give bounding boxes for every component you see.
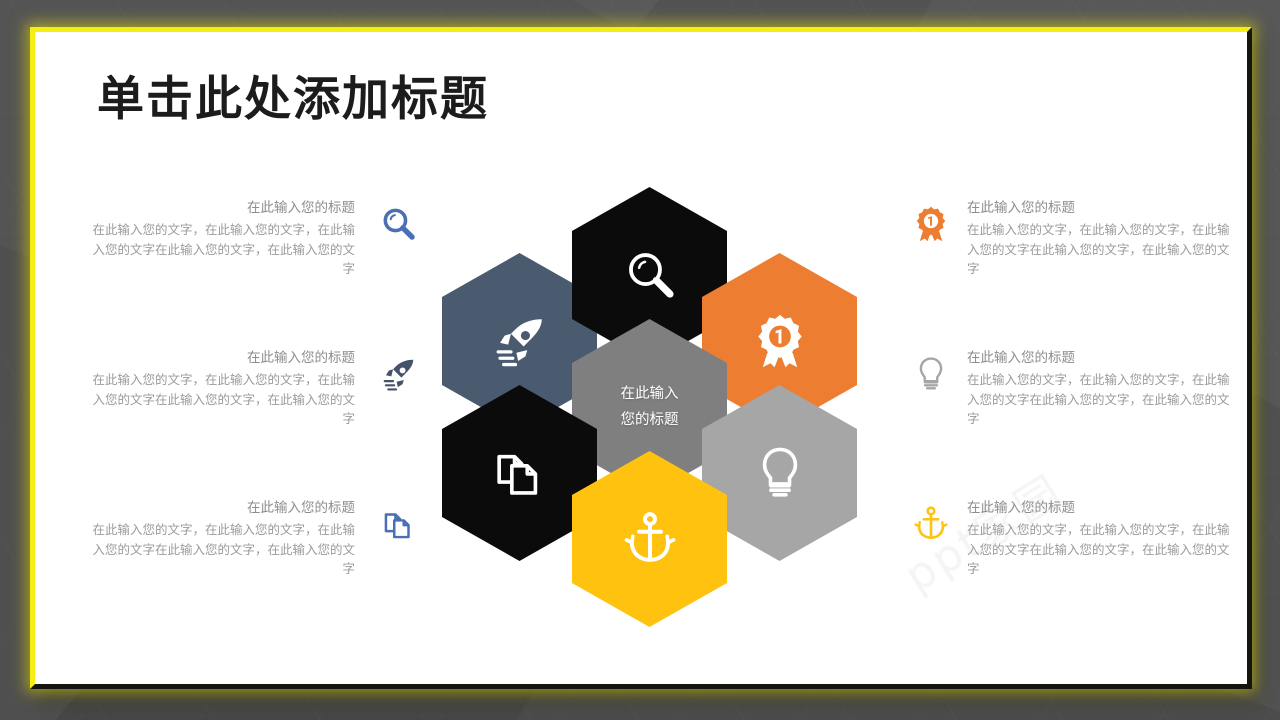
rocket-icon bbox=[377, 352, 421, 396]
info-block-body: 在此输入您的文字，在此输入您的文字，在此输入您的文字在此输入您的文字，在此输入您… bbox=[967, 521, 1239, 580]
info-text-group: 在此输入您的标题 在此输入您的文字，在此输入您的文字，在此输入您的文字在此输入您… bbox=[967, 348, 1239, 430]
info-text-group: 在此输入您的标题 在此输入您的文字，在此输入您的文字，在此输入您的文字在此输入您… bbox=[83, 348, 355, 430]
info-block-body: 在此输入您的文字，在此输入您的文字，在此输入您的文字在此输入您的文字，在此输入您… bbox=[967, 221, 1239, 280]
center-label-line2: 您的标题 bbox=[621, 407, 679, 433]
info-text-group: 在此输入您的标题 在此输入您的文字，在此输入您的文字，在此输入您的文字在此输入您… bbox=[967, 498, 1239, 580]
rocket-icon bbox=[491, 312, 549, 370]
info-block-title: 在此输入您的标题 bbox=[83, 348, 355, 367]
info-block-title: 在此输入您的标题 bbox=[83, 198, 355, 217]
magnifier-icon bbox=[377, 202, 421, 246]
magnifier-icon bbox=[621, 246, 679, 304]
anchor-icon bbox=[621, 510, 679, 568]
info-block-body: 在此输入您的文字，在此输入您的文字，在此输入您的文字在此输入您的文字，在此输入您… bbox=[967, 371, 1239, 430]
info-block-title: 在此输入您的标题 bbox=[967, 498, 1239, 517]
slide-card: 单击此处添加标题 在此输入您的标题 在此输入您的文字，在此输入您的文字，在此输入… bbox=[30, 27, 1252, 689]
info-block-right-3[interactable]: 在此输入您的标题 在此输入您的文字，在此输入您的文字，在此输入您的文字在此输入您… bbox=[903, 498, 1233, 648]
info-block-title: 在此输入您的标题 bbox=[83, 498, 355, 517]
info-block-right-1[interactable]: 在此输入您的标题 在此输入您的文字，在此输入您的文字，在此输入您的文字在此输入您… bbox=[903, 198, 1233, 348]
info-block-title: 在此输入您的标题 bbox=[967, 198, 1239, 217]
center-label-line1: 在此输入 bbox=[621, 381, 679, 407]
info-block-right-2[interactable]: 在此输入您的标题 在此输入您的文字，在此输入您的文字，在此输入您的文字在此输入您… bbox=[903, 348, 1233, 498]
info-block-left-3[interactable]: 在此输入您的标题 在此输入您的文字，在此输入您的文字，在此输入您的文字在此输入您… bbox=[83, 498, 413, 648]
left-info-column: 在此输入您的标题 在此输入您的文字，在此输入您的文字，在此输入您的文字在此输入您… bbox=[83, 198, 413, 648]
info-block-body: 在此输入您的文字，在此输入您的文字，在此输入您的文字在此输入您的文字，在此输入您… bbox=[83, 371, 355, 430]
info-block-title: 在此输入您的标题 bbox=[967, 348, 1239, 367]
copy-files-icon bbox=[491, 444, 549, 502]
info-block-body: 在此输入您的文字，在此输入您的文字，在此输入您的文字在此输入您的文字，在此输入您… bbox=[83, 521, 355, 580]
page-title: 单击此处添加标题 bbox=[97, 74, 489, 126]
copy-files-icon bbox=[377, 502, 421, 546]
info-text-group: 在此输入您的标题 在此输入您的文字，在此输入您的文字，在此输入您的文字在此输入您… bbox=[83, 498, 355, 580]
medal-icon bbox=[751, 312, 809, 370]
medal-icon bbox=[909, 202, 953, 246]
info-block-left-2[interactable]: 在此输入您的标题 在此输入您的文字，在此输入您的文字，在此输入您的文字在此输入您… bbox=[83, 348, 413, 498]
info-text-group: 在此输入您的标题 在此输入您的文字，在此输入您的文字，在此输入您的文字在此输入您… bbox=[967, 198, 1239, 280]
center-label: 在此输入 您的标题 bbox=[621, 381, 679, 433]
right-info-column: 在此输入您的标题 在此输入您的文字，在此输入您的文字，在此输入您的文字在此输入您… bbox=[903, 198, 1233, 648]
info-block-body: 在此输入您的文字，在此输入您的文字，在此输入您的文字在此输入您的文字，在此输入您… bbox=[83, 221, 355, 280]
hexagon-cluster: 在此输入 您的标题 bbox=[435, 187, 865, 617]
lightbulb-icon bbox=[751, 444, 809, 502]
info-text-group: 在此输入您的标题 在此输入您的文字，在此输入您的文字，在此输入您的文字在此输入您… bbox=[83, 198, 355, 280]
lightbulb-icon bbox=[909, 352, 953, 396]
anchor-icon bbox=[909, 502, 953, 546]
info-block-left-1[interactable]: 在此输入您的标题 在此输入您的文字，在此输入您的文字，在此输入您的文字在此输入您… bbox=[83, 198, 413, 348]
